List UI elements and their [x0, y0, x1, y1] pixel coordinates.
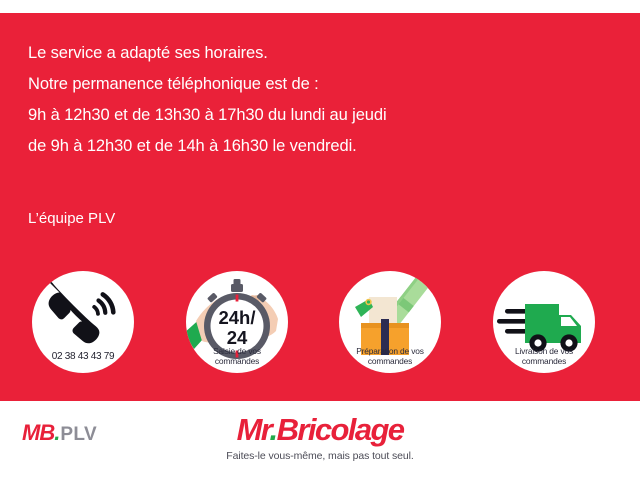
message-line-4: de 9h à 12h30 et de 14h à 16h30 le vendr… [28, 131, 588, 162]
badge-telephone-caption: 02 38 43 43 79 [32, 352, 134, 361]
badge-telephone: 02 38 43 43 79 [32, 271, 134, 373]
badge-order-preparation: Préparation de vos commandes [339, 271, 441, 373]
brand-tagline: Faites-le vous-même, mais pas tout seul. [0, 450, 640, 463]
message-line-1: Le service a adapté ses horaires. [28, 38, 588, 69]
badge-delivery-caption: Livraison de vos commandes [493, 347, 595, 366]
brand-name-part2: Bricolage [277, 412, 404, 447]
service-badge-row: 02 38 43 43 79 2 [0, 271, 640, 375]
caption-line-2: commandes [339, 357, 441, 366]
brand-name-dot: . [270, 412, 277, 447]
caption-line-2: commandes [493, 357, 595, 366]
mr-bricolage-logo: Mr.Bricolage Faites-le vous-même, mais p… [0, 413, 640, 463]
announcement-message: Le service a adapté ses horaires. Notre … [28, 38, 588, 162]
stopwatch-dial-top: 24h/ [218, 307, 255, 328]
announcement-banner: Le service a adapté ses horaires. Notre … [0, 13, 640, 401]
badge-delivery: Livraison de vos commandes [493, 271, 595, 373]
brand-name-part1: Mr [237, 412, 270, 447]
badge-order-entry-caption: Saisie de vos commandes [186, 347, 288, 366]
caption-line-2: commandes [186, 357, 288, 366]
message-line-2: Notre permanence téléphonique est de : [28, 69, 588, 100]
brand-wordmark: Mr.Bricolage [237, 413, 404, 447]
page-footer: MB.PLV Mr.Bricolage Faites-le vous-même,… [0, 401, 640, 480]
badge-order-preparation-caption: Préparation de vos commandes [339, 347, 441, 366]
badge-order-entry: 24h/ 24 Saisie de vos commandes [186, 271, 288, 373]
message-signature: L’équipe PLV [28, 209, 115, 229]
stopwatch-dial-bottom: 24 [227, 327, 248, 348]
message-line-3: 9h à 12h30 et de 13h30 à 17h30 du lundi … [28, 100, 588, 131]
